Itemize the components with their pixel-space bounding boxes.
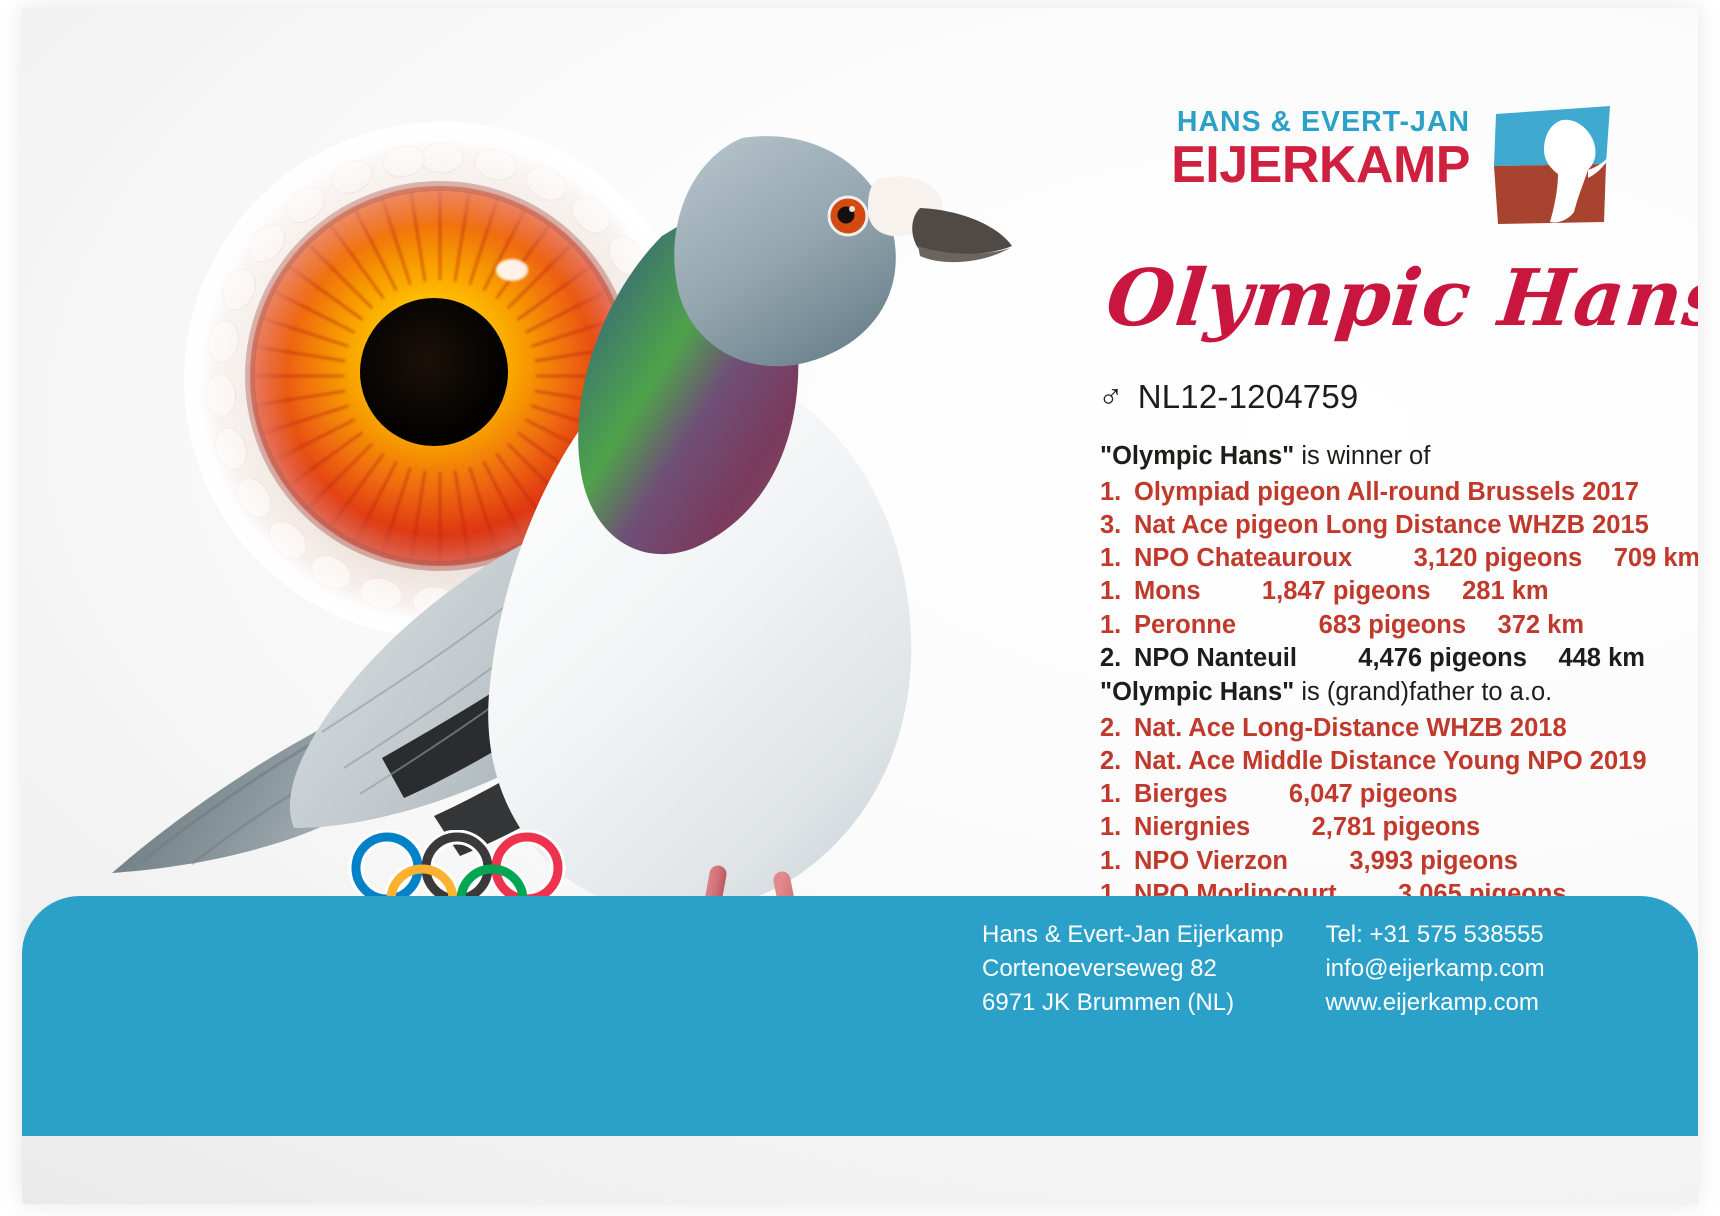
address-line2: Cortenoeverseweg 82 <box>982 952 1283 986</box>
pigeon-emblem-icon <box>1488 104 1616 226</box>
row-distance: 448 km <box>1527 642 1645 675</box>
row-distance: 709 km <box>1582 542 1698 575</box>
row-position: 1. <box>1100 811 1134 844</box>
row-pigeon-count: 3,993 pigeons <box>1288 845 1518 878</box>
poster-card: HANS & EVERT-JAN EIJERKAMP Olympic Hans … <box>22 8 1698 1204</box>
row-position: 1. <box>1100 542 1134 575</box>
table-row: 1. Mons 1,847 pigeons 281 km <box>1100 575 1698 608</box>
row-name: Nat. Ace Long-Distance WHZB 2018 <box>1134 712 1567 745</box>
pigeon-head <box>674 136 896 366</box>
row-pigeon-count: 3,120 pigeons <box>1352 542 1582 575</box>
footer-address: Hans & Evert-Jan Eijerkamp Cortenoeverse… <box>982 918 1283 1020</box>
ring-number-line: ♂ NL12-1204759 <box>1098 378 1358 416</box>
row-position: 1. <box>1100 609 1134 642</box>
row-pigeon-count: 2,781 pigeons <box>1250 811 1480 844</box>
brand-logo-line1: HANS & EVERT-JAN <box>1171 108 1470 137</box>
row-name: Mons <box>1134 575 1201 608</box>
winner-intro-rest: is winner of <box>1294 442 1430 470</box>
row-pigeon-count: 683 pigeons <box>1236 609 1466 642</box>
brand-logo-line2: EIJERKAMP <box>1171 139 1470 191</box>
footer-columns: Hans & Evert-Jan Eijerkamp Cortenoeverse… <box>982 918 1545 1020</box>
row-name: Nat Ace pigeon Long Distance WHZB 2015 <box>1134 509 1649 542</box>
descendants-intro-bold: "Olympic Hans" <box>1100 678 1294 706</box>
table-row: 1. NPO Vierzon 3,993 pigeons <box>1100 845 1698 878</box>
winner-intro: "Olympic Hans" is winner of <box>1100 440 1698 474</box>
row-position: 1. <box>1100 845 1134 878</box>
pigeon-eye <box>828 196 868 236</box>
pigeon-beak <box>912 208 1012 255</box>
website-url[interactable]: www.eijerkamp.com <box>1325 986 1544 1020</box>
row-pigeon-count: 1,847 pigeons <box>1201 575 1431 608</box>
address-line3: 6971 JK Brummen (NL) <box>982 986 1283 1020</box>
table-row: 1. Niergnies 2,781 pigeons <box>1100 811 1698 844</box>
footer-contact: Tel: +31 575 538555 info@eijerkamp.com w… <box>1325 918 1544 1020</box>
table-row: 1. Olympiad pigeon All-round Brussels 20… <box>1100 476 1698 509</box>
descendants-block: "Olympic Hans" is (grand)father to a.o. … <box>1100 676 1698 911</box>
brand-logo-text: HANS & EVERT-JAN EIJERKAMP <box>1171 108 1470 191</box>
table-row: 1. Peronne 683 pigeons 372 km <box>1100 609 1698 642</box>
descendants-intro-rest: is (grand)father to a.o. <box>1294 678 1552 706</box>
table-row: 1. NPO Chateauroux 3,120 pigeons 709 km <box>1100 542 1698 575</box>
brand-logo[interactable]: HANS & EVERT-JAN EIJERKAMP <box>1232 100 1612 228</box>
row-position: 2. <box>1100 712 1134 745</box>
row-pigeon-count: 4,476 pigeons <box>1297 642 1527 675</box>
poster-root: HANS & EVERT-JAN EIJERKAMP Olympic Hans … <box>0 0 1720 1216</box>
email-address[interactable]: info@eijerkamp.com <box>1325 952 1544 986</box>
table-row: 2. NPO Nanteuil 4,476 pigeons 448 km <box>1100 642 1698 675</box>
table-row: 3. Nat Ace pigeon Long Distance WHZB 201… <box>1100 509 1698 542</box>
row-position: 1. <box>1100 476 1134 509</box>
row-position: 1. <box>1100 575 1134 608</box>
page-title: Olympic Hans <box>1103 260 1671 338</box>
winner-block: "Olympic Hans" is winner of 1. Olympiad … <box>1100 440 1698 675</box>
address-line1: Hans & Evert-Jan Eijerkamp <box>982 918 1283 952</box>
row-name: Bierges <box>1134 778 1228 811</box>
row-position: 2. <box>1100 642 1134 675</box>
row-position: 3. <box>1100 509 1134 542</box>
row-pigeon-count: 6,047 pigeons <box>1228 778 1458 811</box>
ring-number: NL12-1204759 <box>1138 378 1359 416</box>
row-position: 1. <box>1100 778 1134 811</box>
table-row: 2. Nat. Ace Long-Distance WHZB 2018 <box>1100 712 1698 745</box>
row-name: NPO Vierzon <box>1134 845 1288 878</box>
row-name: Niergnies <box>1134 811 1250 844</box>
row-name: Olympiad pigeon All-round Brussels 2017 <box>1134 476 1639 509</box>
row-name: Nat. Ace Middle Distance Young NPO 2019 <box>1134 745 1647 778</box>
row-name: Peronne <box>1134 609 1236 642</box>
row-name: NPO Nanteuil <box>1134 642 1297 675</box>
phone-number[interactable]: Tel: +31 575 538555 <box>1325 918 1544 952</box>
row-name: NPO Chateauroux <box>1134 542 1352 575</box>
winner-intro-bold: "Olympic Hans" <box>1100 442 1294 470</box>
table-row: 1. Bierges 6,047 pigeons <box>1100 778 1698 811</box>
row-distance: 281 km <box>1431 575 1549 608</box>
table-row: 2. Nat. Ace Middle Distance Young NPO 20… <box>1100 745 1698 778</box>
footer-bar: Hans & Evert-Jan Eijerkamp Cortenoeverse… <box>22 896 1698 1136</box>
descendants-intro: "Olympic Hans" is (grand)father to a.o. <box>1100 676 1698 710</box>
row-distance: 372 km <box>1466 609 1584 642</box>
male-symbol-icon: ♂ <box>1098 380 1124 414</box>
row-position: 2. <box>1100 745 1134 778</box>
